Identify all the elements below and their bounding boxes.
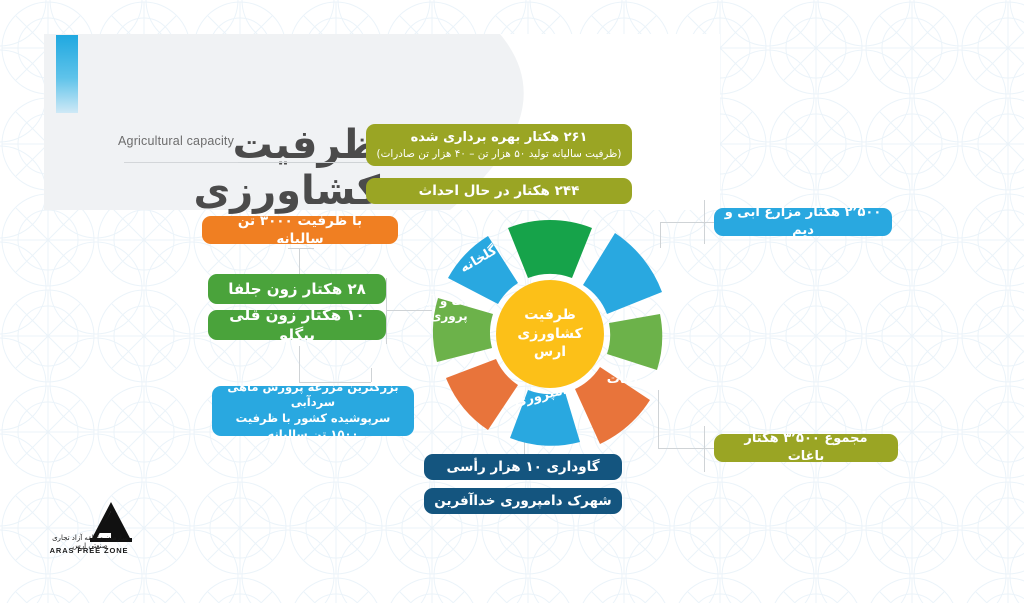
page-subtitle-en: Agricultural capacity	[118, 134, 234, 148]
petal-greenhouse-blue[interactable]	[448, 236, 518, 304]
petal-orchard-green[interactable]	[607, 314, 662, 370]
hub-line2: کشاورزی	[517, 325, 582, 343]
box-navy-town-line1: شهرک دامپروری خداآفرین	[434, 492, 611, 510]
box-green-gholibeyglou-line1: ۱۰ هکتار زون قلی بیگلو	[218, 305, 376, 346]
hub-line1: ظرفیت	[524, 306, 576, 324]
petal-livestock-blue[interactable]	[510, 390, 580, 446]
box-sky-farmland-line1: ۲٬۵۰۰ هکتار مزارع آبی و دیم	[724, 204, 882, 239]
petal-top-green[interactable]	[508, 220, 592, 278]
box-olive-orchards-line1: مجموع ۳٬۵۰۰ هکتار باغات	[724, 430, 888, 465]
accent-bar	[56, 35, 78, 113]
box-green-jolfa[interactable]: ۲۸ هکتار زون جلفا	[208, 274, 386, 304]
box-olive-harvested-line1: ۲۶۱ هکتار بهره برداری شده	[411, 129, 588, 147]
wheel-hub[interactable]: ظرفیت کشاورزی ارس	[496, 280, 604, 388]
connector-green-bracket-v	[386, 278, 387, 344]
connector-left-orange-v	[299, 248, 300, 276]
box-green-gholibeyglou[interactable]: ۱۰ هکتار زون قلی بیگلو	[208, 310, 386, 340]
petal-farms-blue[interactable]	[583, 233, 662, 314]
aras-logo-en: ARAS FREE ZONE	[46, 546, 132, 555]
connector-top-1	[238, 162, 368, 163]
box-blue-fishfarm-line2: سرپوشیده کشور با ظرفیت ۱۵۰۰ تن سالیانه	[222, 411, 404, 442]
petal-left-orange[interactable]	[446, 359, 518, 430]
petal-orchards-orange[interactable]	[575, 367, 650, 444]
box-olive-underconstruction-line1: ۲۴۴ هکتار در حال احداث	[419, 182, 580, 200]
connector-fish-v	[299, 346, 300, 382]
box-orange-capacity[interactable]: با ظرفیت ۳۰۰۰ تن سالیانه	[202, 216, 398, 244]
infographic-canvas: ظرفیت کشاورزی Agricultural capacity ۲۶۱ …	[0, 0, 1024, 603]
hub-line3: ارس	[534, 343, 566, 361]
box-navy-town[interactable]: شهرک دامپروری خداآفرین	[424, 488, 622, 514]
box-blue-fishfarm[interactable]: بزرگترین مزرعه پرورش ماهی سردآبی سرپوشید…	[212, 386, 414, 436]
petal-fisheries-green[interactable]	[433, 298, 493, 362]
box-olive-harvested[interactable]: ۲۶۱ هکتار بهره برداری شده (ظرفیت سالیانه…	[366, 124, 632, 166]
box-green-jolfa-line1: ۲۸ هکتار زون جلفا	[228, 279, 366, 299]
box-orange-capacity-line1: با ظرفیت ۳۰۰۰ تن سالیانه	[212, 212, 388, 248]
box-blue-fishfarm-line1: بزرگترین مزرعه پرورش ماهی سردآبی	[222, 380, 404, 411]
connector-right-bottom-v	[704, 426, 705, 472]
capacity-wheel: ظرفیت کشاورزی ارس گلخانه شیلات و آبزی پر…	[418, 206, 682, 462]
box-sky-farmland[interactable]: ۲٬۵۰۰ هکتار مزارع آبی و دیم	[714, 208, 892, 236]
box-olive-underconstruction[interactable]: ۲۴۴ هکتار در حال احداث	[366, 178, 632, 204]
box-olive-orchards[interactable]: مجموع ۳٬۵۰۰ هکتار باغات	[714, 434, 898, 462]
box-olive-harvested-line2: (ظرفیت سالیانه تولید ۵۰ هزار تن – ۴۰ هزا…	[377, 147, 622, 161]
